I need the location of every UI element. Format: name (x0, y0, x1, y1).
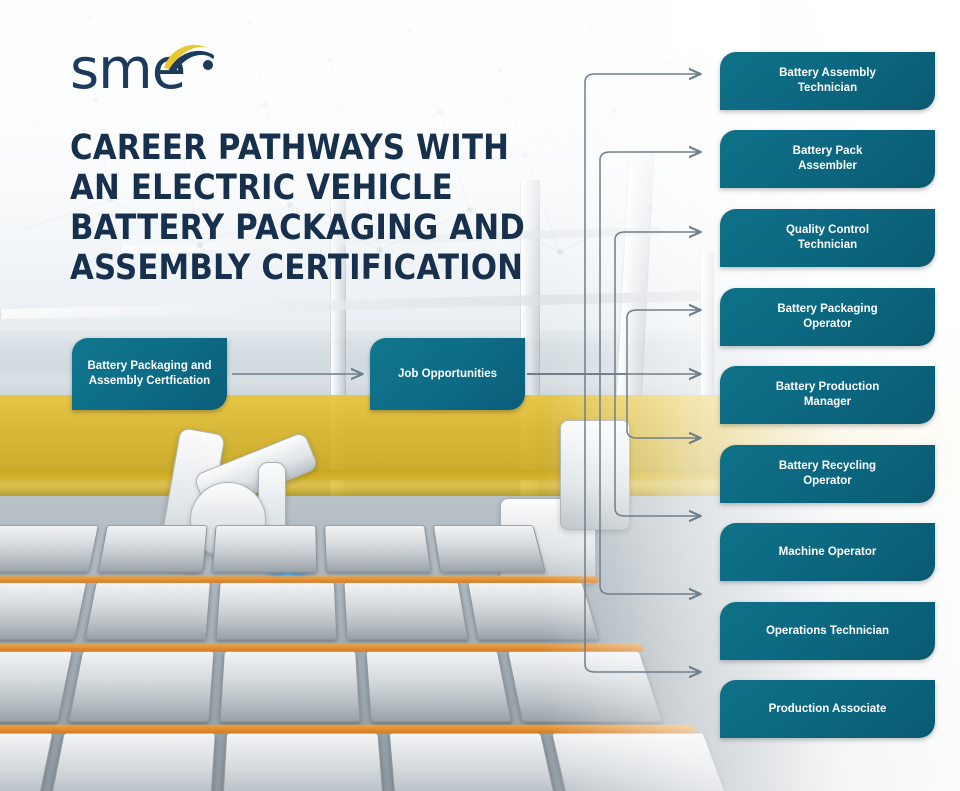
job-box-label: Machine Operator (779, 545, 877, 560)
job-box-label: Battery Recycling Operator (779, 459, 876, 489)
sme-logo[interactable]: sme (70, 42, 260, 102)
node-job-opportunities-label: Job Opportunities (398, 367, 497, 382)
job-box-9[interactable]: Production Associate (720, 680, 935, 738)
job-box-label: Operations Technician (766, 624, 889, 639)
node-job-opportunities[interactable]: Job Opportunities (370, 338, 525, 410)
node-certification-label: Battery Packaging and Assembly Certficat… (80, 359, 219, 389)
infographic-canvas: sme CAREER PATHWAYS WITH AN ELECTRIC VEH… (0, 0, 960, 791)
job-box-8[interactable]: Operations Technician (720, 602, 935, 660)
job-box-label: Battery Assembly Technician (779, 66, 876, 96)
job-box-label: Battery Pack Assembler (793, 144, 863, 174)
job-box-4[interactable]: Battery Packaging Operator (720, 288, 935, 346)
job-box-6[interactable]: Battery Recycling Operator (720, 445, 935, 503)
job-box-3[interactable]: Quality Control Technician (720, 209, 935, 267)
job-box-label: Battery Production Manager (776, 380, 880, 410)
job-box-label: Production Associate (769, 702, 887, 717)
job-box-label: Quality Control Technician (786, 223, 869, 253)
job-box-label: Battery Packaging Operator (777, 302, 877, 332)
swoosh-icon (158, 38, 216, 78)
job-box-1[interactable]: Battery Assembly Technician (720, 52, 935, 110)
job-box-5[interactable]: Battery Production Manager (720, 366, 935, 424)
node-certification[interactable]: Battery Packaging and Assembly Certficat… (72, 338, 227, 410)
job-box-7[interactable]: Machine Operator (720, 523, 935, 581)
job-box-2[interactable]: Battery Pack Assembler (720, 130, 935, 188)
page-title: CAREER PATHWAYS WITH AN ELECTRIC VEHICLE… (70, 128, 528, 288)
